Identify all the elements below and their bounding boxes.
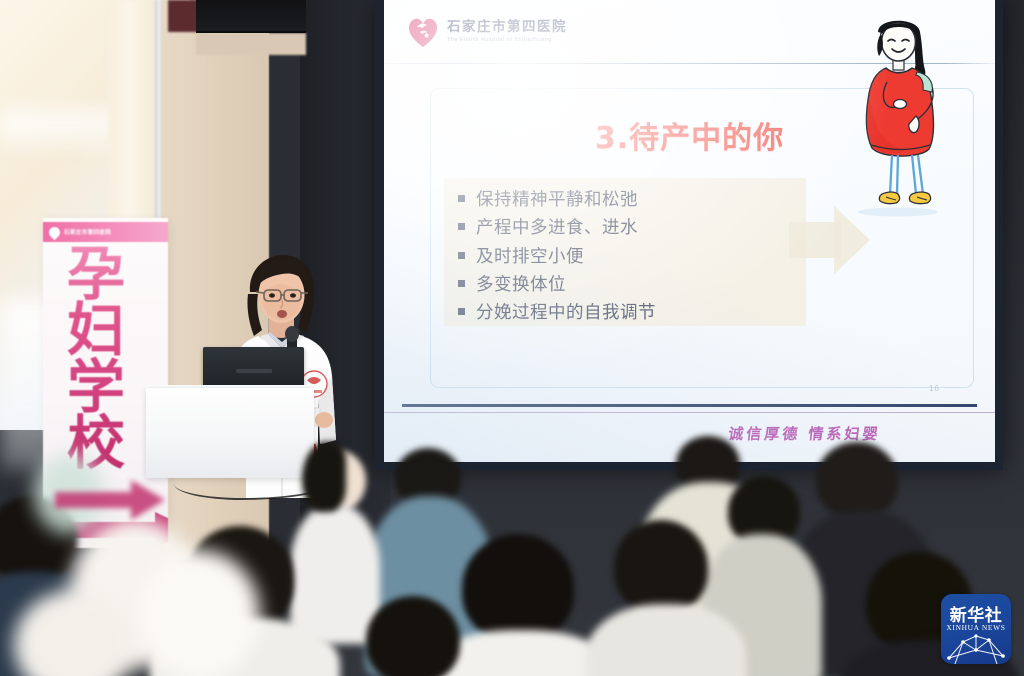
bullet-square-icon — [458, 223, 465, 230]
hospital-logo-text: 石家庄市第四医院 The Fourth Hospital of Shijiazh… — [447, 21, 567, 43]
bullet-square-icon — [458, 280, 465, 287]
bullet-text: 分娩过程中的自我调节 — [476, 304, 656, 323]
bullet-square-icon — [458, 252, 465, 259]
list-item: 及时排空小便 — [458, 248, 798, 267]
bullet-text: 多变换体位 — [476, 276, 566, 295]
bullet-text: 产程中多进食、进水 — [476, 219, 638, 238]
list-item: 保持精神平静和松弛 — [458, 191, 798, 210]
list-item: 产程中多进食、进水 — [458, 219, 798, 238]
network-globe-icon — [941, 632, 1011, 664]
ceiling-panel — [196, 33, 306, 55]
heart-icon — [47, 224, 63, 240]
bullet-list: 保持精神平静和松弛 产程中多进食、进水 及时排空小便 多变换体位 分娩过程中的自… — [458, 191, 798, 332]
slide-page-number: 16 — [929, 384, 940, 393]
banner-char: 孕 — [67, 246, 141, 302]
bullet-text: 保持精神平静和松弛 — [476, 191, 638, 210]
xinhua-news-watermark: 新华社 XINHUA NEWS — [941, 594, 1011, 664]
pregnant-woman-illustration — [824, 8, 974, 228]
watermark-name-en: XINHUA NEWS — [941, 623, 1011, 632]
hospital-name-en: The Fourth Hospital of Shijiazhuang — [447, 38, 567, 43]
banner-header-text: 石家庄市第四医院 — [64, 228, 111, 236]
audience-body — [290, 504, 380, 644]
laptop-brand-mark — [236, 369, 272, 373]
audience-head — [366, 596, 460, 676]
banner-lower-arrow — [55, 470, 175, 530]
projection-screen: 石家庄市第四医院 The Fourth Hospital of Shijiazh… — [384, 0, 995, 462]
list-item: 多变换体位 — [458, 276, 798, 295]
ceiling-speaker — [196, 0, 306, 33]
banner-char: 妇 — [67, 302, 141, 358]
audience-head — [462, 534, 574, 642]
bullet-square-icon — [458, 308, 465, 315]
bullet-text: 及时排空小便 — [476, 248, 584, 267]
banner-header: 石家庄市第四医院 — [43, 222, 168, 242]
audience-hair — [302, 442, 346, 512]
audience-head — [816, 442, 898, 518]
hospital-name-cn: 石家庄市第四医院 — [447, 21, 567, 35]
audience — [0, 400, 1024, 676]
hospital-logo: 石家庄市第四医院 The Fourth Hospital of Shijiazh… — [406, 15, 567, 49]
heart-mother-child-icon — [406, 15, 440, 49]
photograph-scene: 石家庄市第四医院 The Fourth Hospital of Shijiazh… — [0, 0, 1024, 676]
list-item: 分娩过程中的自我调节 — [458, 304, 798, 323]
audience-head — [614, 520, 708, 614]
foreground-object — [140, 550, 260, 676]
bullet-square-icon — [458, 195, 465, 202]
